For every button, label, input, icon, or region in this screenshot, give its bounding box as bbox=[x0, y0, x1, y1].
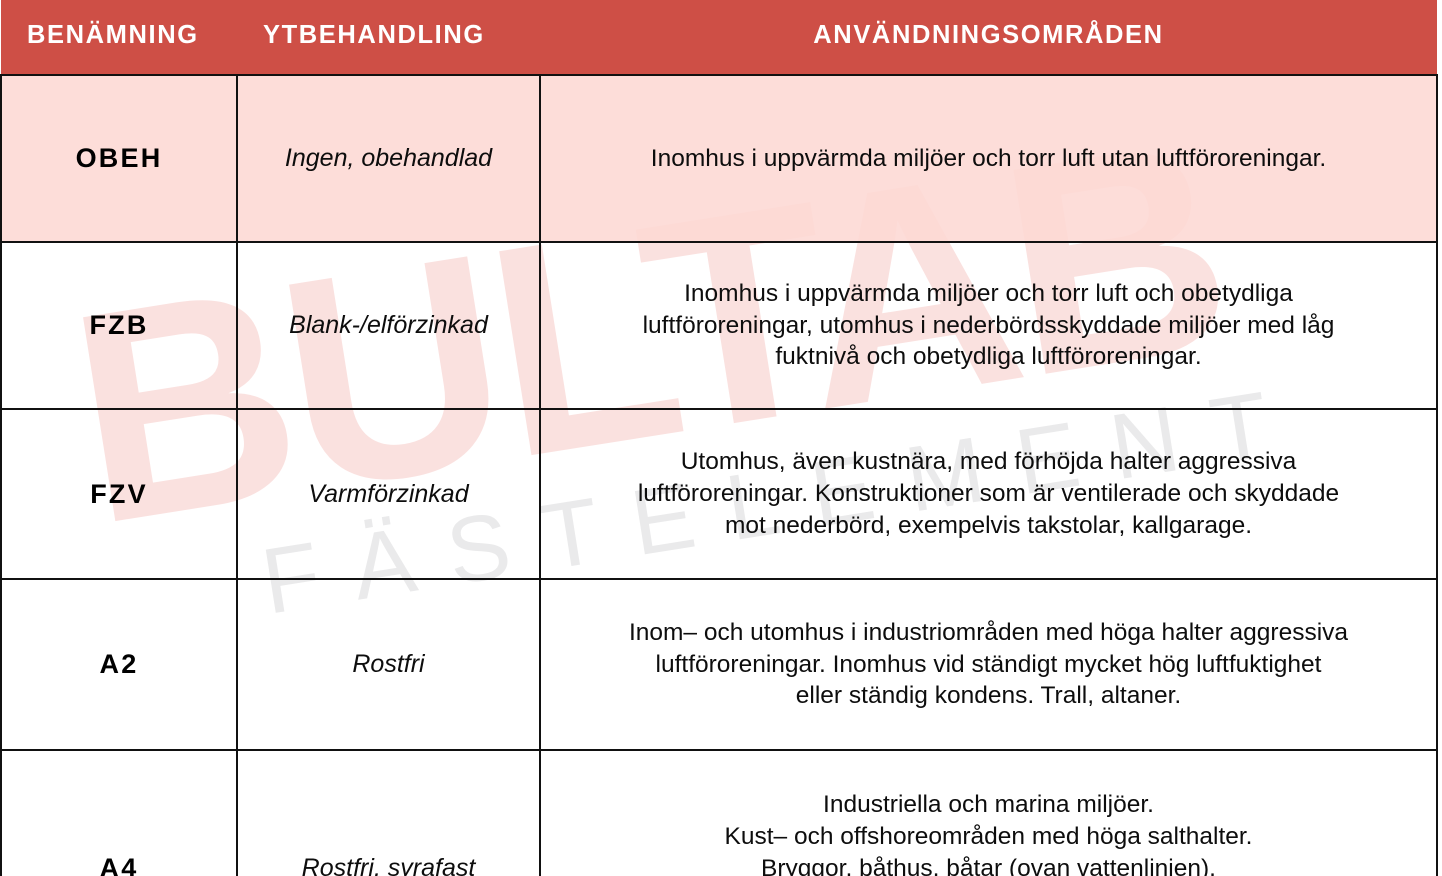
column-header-benamning: BENÄMNING bbox=[1, 0, 237, 75]
usage-line: Inomhus i uppvärmda miljöer och torr luf… bbox=[557, 143, 1420, 175]
table-row: FZB Blank-/elförzinkad Inomhus i uppvärm… bbox=[1, 242, 1437, 409]
cell-usage: Inomhus i uppvärmda miljöer och torr luf… bbox=[540, 242, 1437, 409]
surface-treatment-table: BENÄMNING YTBEHANDLING ANVÄNDNINGSOMRÅDE… bbox=[0, 0, 1438, 876]
usage-line: luftföroreningar, utomhus i nederbördssk… bbox=[557, 310, 1420, 342]
cell-code: FZB bbox=[1, 242, 237, 409]
cell-surface: Blank-/elförzinkad bbox=[237, 242, 540, 409]
usage-line: mot nederbörd, exempelvis takstolar, kal… bbox=[557, 510, 1420, 542]
cell-surface: Varmförzinkad bbox=[237, 409, 540, 579]
usage-line: eller ständig kondens. Trall, altaner. bbox=[557, 680, 1420, 712]
cell-usage: Utomhus, även kustnära, med förhöjda hal… bbox=[540, 409, 1437, 579]
cell-usage: Inomhus i uppvärmda miljöer och torr luf… bbox=[540, 75, 1437, 242]
cell-usage: Inom– och utomhus i industriområden med … bbox=[540, 579, 1437, 750]
cell-code: A4 bbox=[1, 750, 237, 876]
cell-usage: Industriella och marina miljöer. Kust– o… bbox=[540, 750, 1437, 876]
table-body: OBEH Ingen, obehandlad Inomhus i uppvärm… bbox=[1, 75, 1437, 876]
table-row: FZV Varmförzinkad Utomhus, även kustnära… bbox=[1, 409, 1437, 579]
cell-code: A2 bbox=[1, 579, 237, 750]
table-row: OBEH Ingen, obehandlad Inomhus i uppvärm… bbox=[1, 75, 1437, 242]
table-row: A4 Rostfri, syrafast Industriella och ma… bbox=[1, 750, 1437, 876]
table-header: BENÄMNING YTBEHANDLING ANVÄNDNINGSOMRÅDE… bbox=[1, 0, 1437, 75]
usage-line: Industriella och marina miljöer. bbox=[557, 789, 1420, 821]
usage-line: luftföroreningar. Konstruktioner som är … bbox=[557, 478, 1420, 510]
column-header-anvandningsomraden: ANVÄNDNINGSOMRÅDEN bbox=[540, 0, 1437, 75]
cell-surface: Ingen, obehandlad bbox=[237, 75, 540, 242]
usage-line: Utomhus, även kustnära, med förhöjda hal… bbox=[557, 446, 1420, 478]
usage-line: Kust– och offshoreområden med höga salth… bbox=[557, 821, 1420, 853]
usage-line: Bryggor, båthus, båtar (ovan vattenlinje… bbox=[557, 853, 1420, 876]
cell-code: FZV bbox=[1, 409, 237, 579]
usage-line: fuktnivå och obetydliga luftföroreningar… bbox=[557, 341, 1420, 373]
usage-line: luftföroreningar. Inomhus vid ständigt m… bbox=[557, 649, 1420, 681]
table-header-row: BENÄMNING YTBEHANDLING ANVÄNDNINGSOMRÅDE… bbox=[1, 0, 1437, 75]
usage-line: Inom– och utomhus i industriområden med … bbox=[557, 617, 1420, 649]
column-header-ytbehandling: YTBEHANDLING bbox=[237, 0, 540, 75]
page-root: BULTAB FÄSTELEMENT BENÄMNING YTBEHANDLIN… bbox=[0, 0, 1442, 876]
table-row: A2 Rostfri Inom– och utomhus i industrio… bbox=[1, 579, 1437, 750]
cell-surface: Rostfri, syrafast bbox=[237, 750, 540, 876]
cell-code: OBEH bbox=[1, 75, 237, 242]
cell-surface: Rostfri bbox=[237, 579, 540, 750]
usage-line: Inomhus i uppvärmda miljöer och torr luf… bbox=[557, 278, 1420, 310]
